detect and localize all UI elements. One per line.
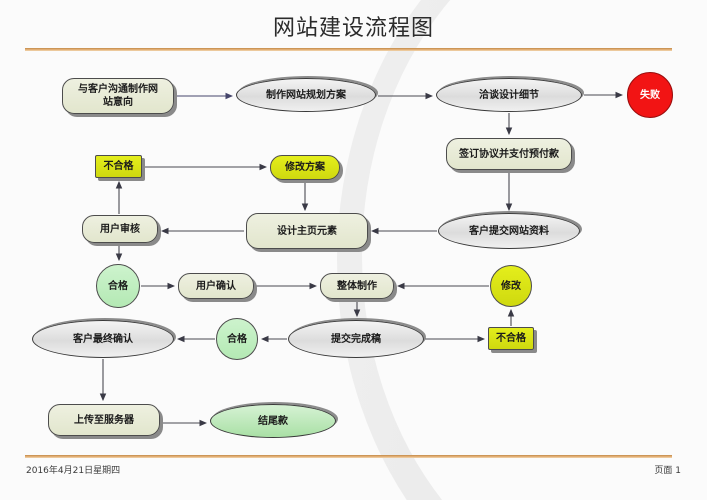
node-discuss-intent[interactable]: 与客户沟通制作网站意向 [62, 78, 174, 114]
slide-canvas: 网站建设流程图 [0, 0, 707, 500]
node-discuss-design-details[interactable]: 洽谈设计细节 [436, 78, 582, 112]
node-full-production[interactable]: 整体制作 [320, 273, 394, 299]
title-divider-top [25, 48, 672, 51]
node-failure[interactable]: 失败 [627, 72, 673, 118]
node-fail-review-bottom[interactable]: 不合格 [488, 327, 534, 350]
node-client-final-confirm[interactable]: 客户最终确认 [32, 320, 174, 358]
node-label: 上传至服务器 [70, 414, 138, 427]
footer-page-number: 页面 1 [654, 463, 681, 476]
node-label: 用户确认 [192, 280, 240, 293]
node-revise[interactable]: 修改 [490, 265, 532, 307]
node-sign-agreement-deposit[interactable]: 签订协议并支付预付款 [446, 138, 572, 170]
node-label: 提交完成稿 [327, 333, 385, 346]
node-submit-final-draft[interactable]: 提交完成稿 [288, 320, 424, 358]
node-label: 修改方案 [281, 161, 329, 174]
node-label: 失败 [636, 89, 664, 102]
node-label: 与客户沟通制作网站意向 [74, 83, 162, 109]
node-label: 制作网站规划方案 [262, 89, 350, 102]
node-revise-plan[interactable]: 修改方案 [270, 155, 340, 180]
page-title: 网站建设流程图 [0, 10, 707, 42]
node-label: 签订协议并支付预付款 [455, 148, 563, 161]
node-label: 洽谈设计细节 [475, 89, 543, 102]
node-label: 客户最终确认 [69, 333, 137, 346]
node-client-submit-materials[interactable]: 客户提交网站资料 [438, 213, 580, 249]
node-label: 修改 [497, 280, 525, 293]
node-label: 不合格 [492, 332, 530, 345]
node-design-homepage-elements[interactable]: 设计主页元素 [246, 213, 368, 249]
node-pass-review-lower[interactable]: 合格 [216, 318, 258, 360]
node-label: 不合格 [100, 160, 138, 173]
footer-divider [25, 455, 672, 458]
node-label: 整体制作 [333, 280, 381, 293]
footer-date: 2016年4月21日星期四 [26, 463, 120, 476]
node-label: 结尾款 [254, 415, 292, 428]
node-upload-to-server[interactable]: 上传至服务器 [48, 404, 160, 436]
node-label: 合格 [104, 280, 132, 293]
node-label: 用户审核 [96, 223, 144, 236]
node-label: 设计主页元素 [273, 225, 341, 238]
node-final-payment[interactable]: 结尾款 [210, 404, 336, 438]
node-pass-review-upper[interactable]: 合格 [96, 264, 140, 308]
node-user-confirm[interactable]: 用户确认 [178, 273, 254, 299]
node-label: 客户提交网站资料 [465, 225, 553, 238]
node-make-plan[interactable]: 制作网站规划方案 [236, 78, 376, 112]
node-label: 合格 [223, 333, 251, 346]
node-fail-review-top[interactable]: 不合格 [95, 155, 142, 178]
node-user-review[interactable]: 用户审核 [82, 215, 158, 243]
